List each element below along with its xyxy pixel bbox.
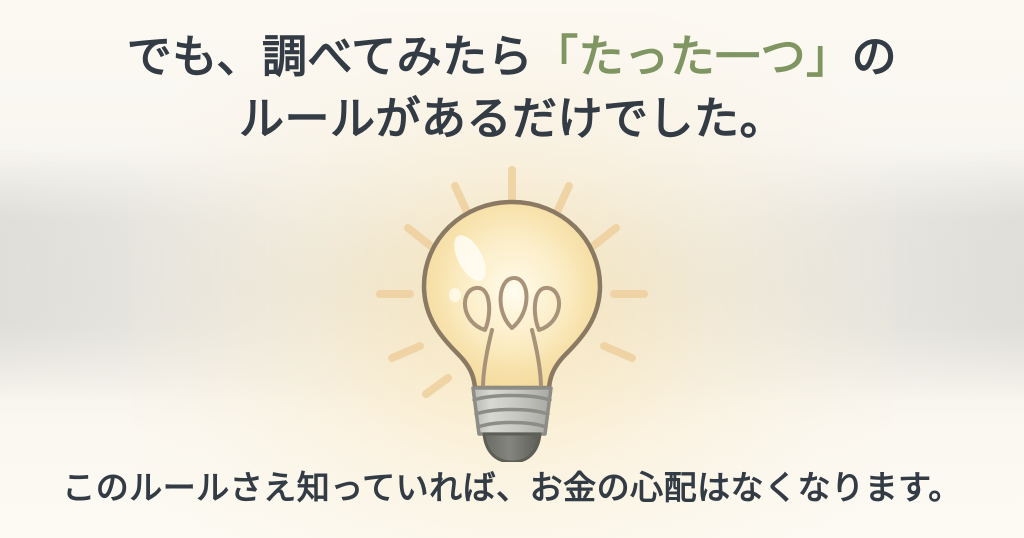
- ray-midupper-right: [592, 228, 616, 247]
- caption-text: このルールさえ知っていれば、お金の心配はなくなります。: [0, 466, 1024, 510]
- ray-upper-right: [557, 186, 569, 212]
- lightbulb-illustration: [352, 162, 672, 462]
- ray-upper-left: [455, 186, 467, 212]
- headline-line-1: でも、調べてみたら「たった一つ」の: [0, 26, 1024, 88]
- headline-line-2: ルールがあるだけでした。: [0, 88, 1024, 150]
- ray-bottom-left: [426, 378, 448, 394]
- lightbulb-svg: [352, 162, 672, 462]
- bulb-highlight-dot: [449, 288, 461, 302]
- slide-canvas: でも、調べてみたら「たった一つ」の ルールがあるだけでした。: [0, 0, 1024, 538]
- headline: でも、調べてみたら「たった一つ」の ルールがあるだけでした。: [0, 26, 1024, 150]
- headline-accent-phrase: 「たった一つ」: [533, 31, 852, 82]
- ray-lower-left: [392, 346, 420, 358]
- headline-line-1-suffix: の: [852, 31, 898, 82]
- ray-midupper-left: [408, 228, 432, 247]
- ray-lower-right: [604, 346, 632, 358]
- headline-line-1-prefix: でも、調べてみたら: [127, 31, 533, 82]
- bulb-base-tip: [484, 434, 540, 462]
- bulb-base: [473, 388, 551, 462]
